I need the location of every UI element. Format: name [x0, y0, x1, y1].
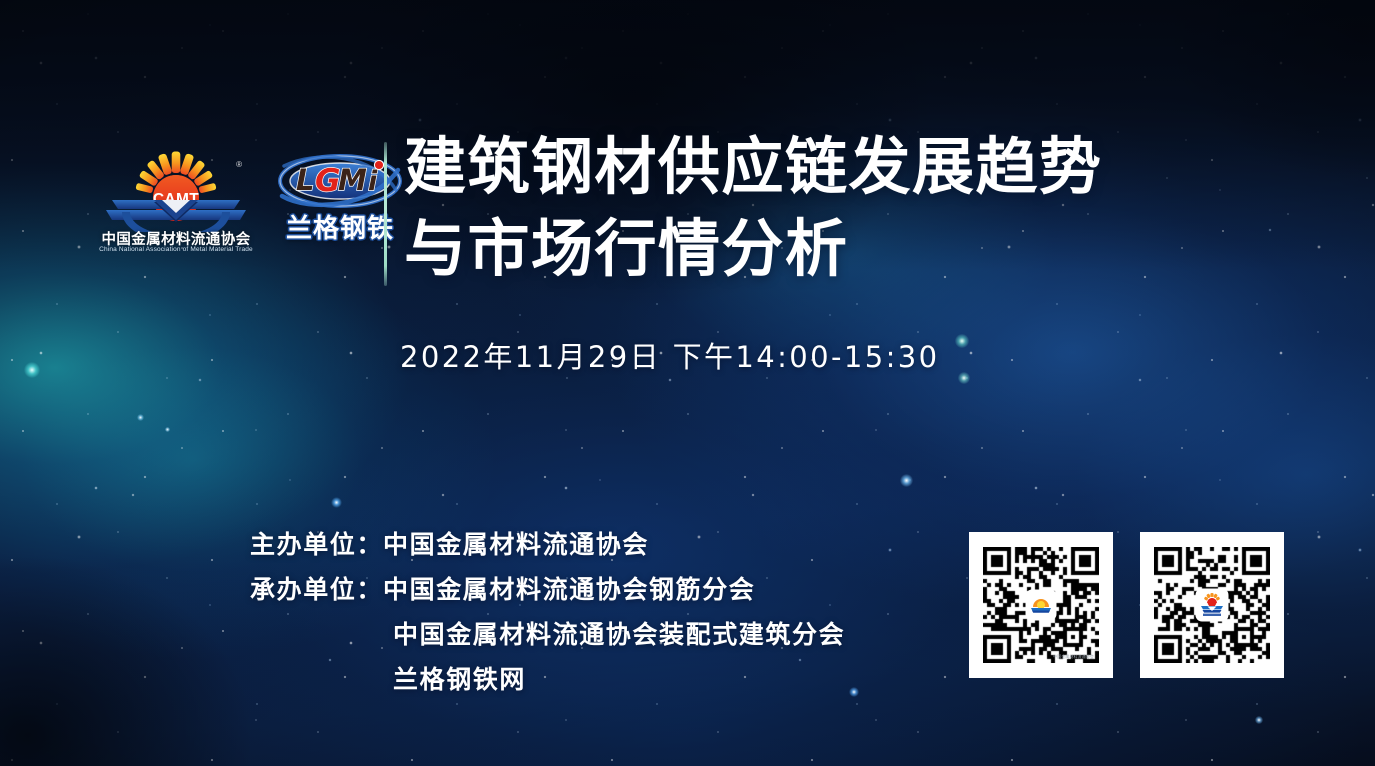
page-title: 建筑钢材供应链发展趋势 与市场行情分析	[404, 126, 1103, 290]
qr-pattern	[1154, 547, 1270, 663]
title-divider	[384, 142, 387, 286]
qr-code-left[interactable]: 中国金属材料流通协会	[969, 532, 1113, 678]
qr-watermark-left: 中国金属材料流通协会	[1053, 654, 1094, 660]
qr-center-logo-icon	[1197, 590, 1227, 620]
camt-name-en: China National Association of Metal Mate…	[94, 246, 257, 253]
title-line-1: 建筑钢材供应链发展趋势	[404, 126, 1103, 208]
organizer-line: 承办单位：中国金属材料流通协会钢筋分会	[250, 567, 845, 612]
qr-center-logo-icon	[1027, 591, 1055, 619]
svg-text:L: L	[296, 163, 314, 197]
title-line-2: 与市场行情分析	[404, 208, 1103, 290]
svg-text:G: G	[315, 163, 340, 199]
event-poster: CAMT ® 中国金属材料流通协会 China National Associ	[0, 0, 1375, 766]
qr-pattern: 中国金属材料流通协会	[983, 547, 1099, 663]
camt-emblem-icon: CAMT	[96, 150, 256, 232]
registered-trademark-icon: ®	[236, 160, 242, 169]
organizer-list: 主办单位：中国金属材料流通协会 承办单位：中国金属材料流通协会钢筋分会 中国金属…	[250, 522, 845, 702]
logo-row: CAMT ® 中国金属材料流通协会 China National Associ	[96, 150, 404, 262]
camt-association-icon	[1198, 591, 1226, 619]
qr-code-right[interactable]	[1140, 532, 1284, 678]
svg-text:i: i	[368, 166, 378, 197]
organizer-line: 中国金属材料流通协会装配式建筑分会	[250, 612, 845, 657]
camt-svg: CAMT	[96, 150, 256, 232]
camt-sun-wave-icon	[1029, 593, 1053, 617]
svg-text:M: M	[338, 163, 367, 197]
organizer-line: 兰格钢铁网	[250, 657, 845, 702]
camt-logo: CAMT ® 中国金属材料流通协会 China National Associ	[96, 150, 256, 262]
organizer-line: 主办单位：中国金属材料流通协会	[250, 522, 845, 567]
event-datetime: 2022年11月29日 下午14:00-15:30	[400, 334, 939, 376]
